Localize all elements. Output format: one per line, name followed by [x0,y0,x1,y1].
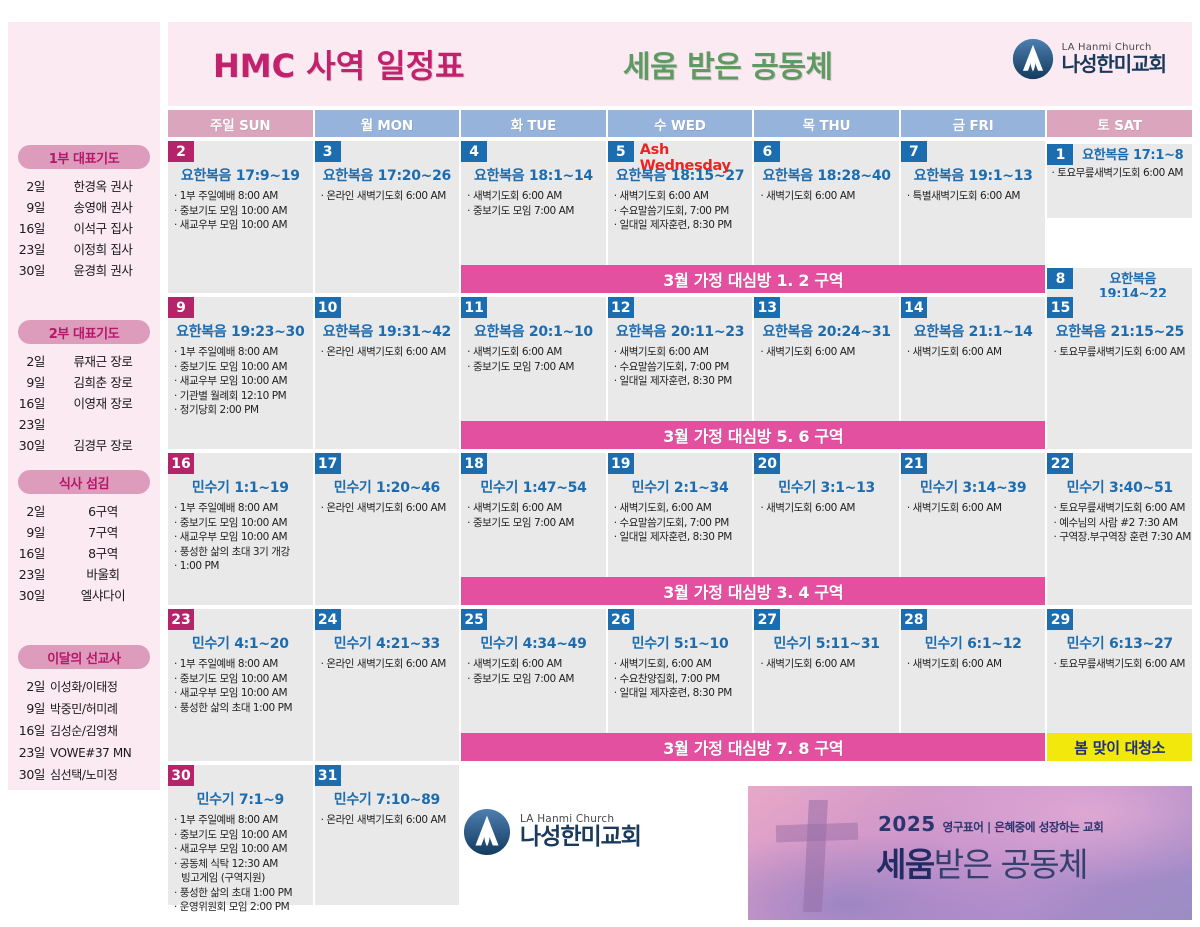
event-item: 중보기도 모임 7:00 AM [467,516,601,531]
calendar-week-row: 23민수기 4:1~201부 주일예배 8:00 AM중보기도 모임 10:00… [168,609,1192,761]
sidebar-row-day: 9일 [16,522,54,543]
daily-verse: 민수기 3:1~13 [754,477,899,497]
sidebar-row: 30일엘샤다이 [16,585,152,606]
sidebar-row: 23일바울회 [16,564,152,585]
daily-verse: 요한복음 19:31~42 [315,321,460,341]
sidebar-row-day: 2일 [16,351,54,372]
dow-header-0: 주일 SUN [168,110,313,137]
page-title: HMC 사역 일정표 [213,41,465,87]
day-cell[interactable]: 24민수기 4:21~33온라인 새벽기도회 6:00 AM [315,609,460,761]
day-number: 10 [315,297,341,318]
event-item: 새벽기도회 6:00 AM [614,345,748,360]
event-item: 일대일 제자훈련, 8:30 PM [614,218,748,233]
event-item: 온라인 새벽기도회 6:00 AM [321,345,455,360]
event-item: 수요찬양집회, 7:00 PM [614,672,748,687]
sidebar-row: 9일송영애 권사 [16,197,152,218]
event-list: 새벽기도회, 6:00 AM수요말씀기도회, 7:00 PM일대일 제자훈련, … [608,501,753,545]
event-list: 특별새벽기도회 6:00 AM [901,189,1046,204]
event-item: 새벽기도회 6:00 AM [467,501,601,516]
daily-verse: 민수기 4:21~33 [315,633,460,653]
event-list: 1부 주일예배 8:00 AM중보기도 모임 10:00 AM새교우부 모임 1… [168,345,313,418]
dow-header-4: 목 THU [754,110,899,137]
daily-verse: 요한복음 20:24~31 [754,321,899,341]
sidebar-row: 30일김경무 장로 [16,435,152,456]
event-item: 토요무릎새벽기도회 6:00 AM [1053,345,1187,360]
day-cell[interactable]: 30민수기 7:1~91부 주일예배 8:00 AM중보기도 모임 10:00 … [168,765,313,905]
sidebar-row-day: 30일 [16,764,50,785]
sidebar-section-title: 이달의 선교사 [18,645,150,669]
event-list: 토요무릎새벽기도회 6:00 AM [1047,166,1192,180]
day-number: 23 [168,609,194,630]
event-list: 새벽기도회, 6:00 AM수요찬양집회, 7:00 PM일대일 제자훈련, 8… [608,657,753,701]
daily-verse: 민수기 4:34~49 [461,633,606,653]
sidebar-row-value: 류재근 장로 [54,351,152,372]
sidebar-section: 이달의 선교사2일이성화/이태정9일박중민/허미례16일김성순/김영채23일VO… [8,645,160,786]
day-cell[interactable]: 31민수기 7:10~89온라인 새벽기도회 6:00 AM [315,765,460,905]
sidebar-row-value: 6구역 [54,501,152,522]
day-number: 27 [754,609,780,630]
event-item: 1부 주일예배 8:00 AM [174,501,308,516]
sidebar-row-day: 2일 [16,501,54,522]
event-item: 새교우부 모임 10:00 AM [174,842,308,857]
event-item: 새벽기도회, 6:00 AM [614,501,748,516]
event-item: 중보기도 모임 10:00 AM [174,516,308,531]
daily-verse: 민수기 7:1~9 [168,789,313,809]
event-item: 온라인 새벽기도회 6:00 AM [321,189,455,204]
mountain-logo-icon [1012,38,1054,80]
banner-tagline-row: 2025 영구표어 | 은혜중에 성장하는 교회 [878,812,1103,836]
sidebar-row-day: 30일 [16,260,54,281]
sidebar-row-day: 16일 [16,543,54,564]
daily-verse: 요한복음 18:1~14 [461,165,606,185]
banner-slogan: 세움받은 공동체 [876,838,1087,886]
day-number: 8 [1047,268,1073,289]
sidebar-section: 1부 대표기도2일한경옥 권사9일송영애 권사16일이석구 집사23일이정희 집… [8,145,160,281]
sidebar-row-day: 23일 [16,742,50,763]
logo-korean-name: 나성한미교회 [1062,54,1166,75]
day-number: 22 [1047,453,1073,474]
day-cell[interactable]: 9요한복음 19:23~301부 주일예배 8:00 AM중보기도 모임 10:… [168,297,313,449]
event-list: 토요무릎새벽기도회 6:00 AM [1047,345,1192,360]
sidebar-row: 16일8구역 [16,543,152,564]
sidebar-row-day: 16일 [16,218,54,239]
event-item: 특별새벽기도회 6:00 AM [907,189,1041,204]
event-item: 중보기도 모임 10:00 AM [174,204,308,219]
banner-tagline: 영구표어 | 은혜중에 성장하는 교회 [943,819,1104,835]
event-item: 중보기도 모임 10:00 AM [174,360,308,375]
day-number: 1 [1047,144,1073,165]
cross-crossbar-icon [776,823,859,843]
event-list: 새벽기도회 6:00 AM중보기도 모임 7:00 AM [461,189,606,218]
event-list: 온라인 새벽기도회 6:00 AM [315,345,460,360]
sidebar-row-day: 23일 [16,414,54,435]
event-list: 토요무릎새벽기도회 6:00 AM예수님의 사람 #2 7:30 AM구역장.부… [1047,501,1192,545]
calendar-week-row: 16민수기 1:1~191부 주일예배 8:00 AM중보기도 모임 10:00… [168,453,1192,605]
dow-header-6: 토 SAT [1047,110,1192,137]
event-item: 수요말씀기도회, 7:00 PM [614,516,748,531]
event-item: 새벽기도회 6:00 AM [907,657,1041,672]
day-number: 11 [461,297,487,318]
sidebar-row: 9일김희춘 장로 [16,372,152,393]
daily-verse: 민수기 1:20~46 [315,477,460,497]
day-number: 19 [608,453,634,474]
daily-verse: 민수기 2:1~34 [608,477,753,497]
event-item: 풍성한 삶의 초대 3기 개강 [174,545,308,560]
dow-header-1: 월 MON [315,110,460,137]
visitation-banner: 3월 가정 대심방 7. 8 구역 [461,733,1045,761]
sidebar-section-title: 1부 대표기도 [18,145,150,169]
daily-verse: 민수기 6:1~12 [901,633,1046,653]
banner-year: 2025 [878,812,936,836]
dow-header-2: 화 TUE [461,110,606,137]
day-number: 13 [754,297,780,318]
sidebar-row-value: 이영재 장로 [54,393,152,414]
event-item: 토요무릎새벽기도회 6:00 AM [1053,657,1187,672]
sidebar-section-list: 2일이성화/이태정9일박중민/허미례16일김성순/김영채23일VOWE#37 M… [8,676,160,786]
dow-header-5: 금 FRI [901,110,1046,137]
sidebar-row-value: VOWE#37 MN [50,743,152,764]
event-list: 새벽기도회 6:00 AM중보기도 모임 7:00 AM [461,657,606,686]
day-number: 4 [461,141,487,162]
event-list: 온라인 새벽기도회 6:00 AM [315,657,460,672]
event-item: 새벽기도회, 6:00 AM [614,657,748,672]
event-list: 새벽기도회 6:00 AM [901,501,1046,516]
event-list: 1부 주일예배 8:00 AM중보기도 모임 10:00 AM새교우부 모임 1… [168,813,313,915]
sidebar-row-value: 박중민/허미례 [50,699,152,720]
event-item: 온라인 새벽기도회 6:00 AM [321,657,455,672]
day-number: 28 [901,609,927,630]
event-item: 일대일 제자훈련, 8:30 PM [614,686,748,701]
event-item: 새벽기도회 6:00 AM [467,657,601,672]
calendar-page: 2025년 3월 1부 대표기도2일한경옥 권사9일송영애 권사16일이석구 집… [0,0,1200,927]
daily-verse: 민수기 3:14~39 [901,477,1046,497]
daily-verse: 요한복음 20:11~23 [608,321,753,341]
sidebar-row-day: 9일 [16,372,54,393]
event-item: 빙고게임 (구역지원) [174,871,308,886]
event-item: 새교우부 모임 10:00 AM [174,686,308,701]
day-cell-stacked[interactable]: 1요한복음 17:1~8토요무릎새벽기도회 6:00 AM8요한복음 19:14… [1047,141,1192,293]
event-item: 풍성한 삶의 초대 1:00 PM [174,701,308,716]
sidebar-row-day: 23일 [16,239,54,260]
day-cell[interactable]: 23민수기 4:1~201부 주일예배 8:00 AM중보기도 모임 10:00… [168,609,313,761]
event-item: 1부 주일예배 8:00 AM [174,189,308,204]
sidebar-row-value: 이석구 집사 [54,218,152,239]
event-list: 새벽기도회 6:00 AM [754,345,899,360]
sidebar-row: 16일김성순/김영채 [16,720,152,742]
sidebar-row-day: 30일 [16,435,54,456]
event-list: 새벽기도회 6:00 AM수요말씀기도회, 7:00 PM일대일 제자훈련, 8… [608,345,753,389]
visitation-banner: 3월 가정 대심방 1. 2 구역 [461,265,1045,293]
day-number: 21 [901,453,927,474]
sidebar-row-value: 김성순/김영채 [50,721,152,742]
event-item: 토요무릎새벽기도회 6:00 AM [1051,166,1189,180]
event-item: 새벽기도회 6:00 AM [760,657,894,672]
sidebar-row-day: 2일 [16,176,54,197]
day-number: 18 [461,453,487,474]
sidebar-section-list: 2일류재근 장로9일김희춘 장로16일이영재 장로23일30일김경무 장로 [8,351,160,456]
event-list: 새벽기도회 6:00 AM [754,189,899,204]
daily-verse: 요한복음 21:1~14 [901,321,1046,341]
event-item: 운영위원회 모임 2:00 PM [174,900,308,915]
sidebar-row-value: 김희춘 장로 [54,372,152,393]
day-number: 15 [1047,297,1073,318]
event-item: 새벽기도회 6:00 AM [467,189,601,204]
day-number: 24 [315,609,341,630]
header-banner: HMC 사역 일정표 세움 받은 공동체 LA Hanmi Church 나성한 [168,22,1192,106]
event-item: 새벽기도회 6:00 AM [760,345,894,360]
sidebar-row: 9일7구역 [16,522,152,543]
event-list: 온라인 새벽기도회 6:00 AM [315,501,460,516]
event-item: 새벽기도회 6:00 AM [907,501,1041,516]
event-item: 기관별 월례회 12:10 PM [174,389,308,404]
day-number: 3 [315,141,341,162]
day-number: 2 [168,141,194,162]
sidebar-row-day: 23일 [16,564,54,585]
sidebar-row: 30일심선택/노미정 [16,764,152,786]
sidebar-row-value: 이정희 집사 [54,239,152,260]
event-item: 중보기도 모임 10:00 AM [174,828,308,843]
slogan-banner: 2025 영구표어 | 은혜중에 성장하는 교회 세움받은 공동체 [748,786,1192,920]
event-item: 중보기도 모임 7:00 AM [467,360,601,375]
day-cell[interactable]: 22민수기 3:40~51토요무릎새벽기도회 6:00 AM예수님의 사람 #2… [1047,453,1192,605]
event-item: 일대일 제자훈련, 8:30 PM [614,374,748,389]
daily-verse: 민수기 7:10~89 [315,789,460,809]
event-item: 정기당회 2:00 PM [174,403,308,418]
sidebar-row: 23일 [16,414,152,435]
sidebar-row-value: 한경옥 권사 [54,176,152,197]
day-number: 26 [608,609,634,630]
event-item: 1:00 PM [174,559,308,574]
church-logo-footer: LA Hanmi Church 나성한미교회 [463,808,641,856]
daily-verse: 민수기 3:40~51 [1047,477,1192,497]
event-list: 새벽기도회 6:00 AM중보기도 모임 7:00 AM [461,501,606,530]
event-item: 새벽기도회 6:00 AM [467,345,601,360]
sidebar-row: 2일이성화/이태정 [16,676,152,698]
sidebar-section-list: 2일한경옥 권사9일송영애 권사16일이석구 집사23일이정희 집사30일윤경희… [8,176,160,281]
daily-verse: 요한복음 19:23~30 [168,321,313,341]
calendar-week-row: 9요한복음 19:23~301부 주일예배 8:00 AM중보기도 모임 10:… [168,297,1192,449]
sidebar-row-value: 8구역 [54,543,152,564]
sidebar-row-value: 김경무 장로 [54,435,152,456]
event-item: 토요무릎새벽기도회 6:00 AM [1053,501,1187,516]
calendar-week-row: 2요한복음 17:9~191부 주일예배 8:00 AM중보기도 모임 10:0… [168,141,1192,293]
event-item: 새벽기도회 6:00 AM [760,501,894,516]
sidebar-row-day: 16일 [16,393,54,414]
day-cell[interactable]: 1요한복음 17:1~8토요무릎새벽기도회 6:00 AM [1047,144,1192,218]
day-of-week-header: 주일 SUN월 MON화 TUE수 WED목 THU금 FRI토 SAT [168,110,1192,137]
sidebar-row-value: 심선택/노미정 [50,765,152,786]
sidebar-row-day: 2일 [16,676,50,697]
event-list: 새벽기도회 6:00 AM수요말씀기도회, 7:00 PM일대일 제자훈련, 8… [608,189,753,233]
event-item: 새벽기도회 6:00 AM [760,189,894,204]
day-number: 30 [168,765,194,786]
mountain-logo-icon [463,808,511,856]
banner-slogan-rest: 받은 공동체 [934,845,1087,884]
daily-verse: 민수기 5:11~31 [754,633,899,653]
daily-verse: 요한복음 17:20~26 [315,165,460,185]
sidebar-row-day: 9일 [16,197,54,218]
event-item: 온라인 새벽기도회 6:00 AM [321,501,455,516]
sidebar-row-value: 바울회 [54,564,152,585]
event-item: 온라인 새벽기도회 6:00 AM [321,813,455,828]
event-list: 새벽기도회 6:00 AM [754,657,899,672]
special-day-tag: Ash Wednesday [640,142,753,174]
event-item: 수요말씀기도회, 7:00 PM [614,204,748,219]
sidebar-row-day: 16일 [16,720,50,741]
event-list: 새벽기도회 6:00 AM [901,657,1046,672]
day-number: 9 [168,297,194,318]
church-logo-header: LA Hanmi Church 나성한미교회 [1012,38,1166,80]
sidebar-section-title: 식사 섬김 [18,470,150,494]
sidebar-row: 16일이석구 집사 [16,218,152,239]
sidebar-row-value: 송영애 권사 [54,197,152,218]
day-number: 29 [1047,609,1073,630]
day-number: 7 [901,141,927,162]
day-number: 17 [315,453,341,474]
sidebar-row-day: 9일 [16,698,50,719]
event-list: 온라인 새벽기도회 6:00 AM [315,189,460,204]
daily-verse: 민수기 4:1~20 [168,633,313,653]
day-number: 14 [901,297,927,318]
sidebar-row: 9일박중민/허미례 [16,698,152,720]
event-item: 일대일 제자훈련, 8:30 PM [614,530,748,545]
sidebar-row-value: 이성화/이태정 [50,677,152,698]
day-number: 20 [754,453,780,474]
sidebar-row-day: 30일 [16,585,54,606]
event-list: 토요무릎새벽기도회 6:00 AM [1047,657,1192,672]
day-cell[interactable]: 17민수기 1:20~46온라인 새벽기도회 6:00 AM [315,453,460,605]
visitation-banner: 3월 가정 대심방 5. 6 구역 [461,421,1045,449]
event-item: 1부 주일예배 8:00 AM [174,345,308,360]
sidebar-section: 2부 대표기도2일류재근 장로9일김희춘 장로16일이영재 장로23일30일김경… [8,320,160,456]
day-number: 16 [168,453,194,474]
footer-logo-korean-name: 나성한미교회 [520,825,641,849]
daily-verse: 요한복음 17:9~19 [168,165,313,185]
event-item: 수요말씀기도회, 7:00 PM [614,360,748,375]
day-number: 12 [608,297,634,318]
sidebar-row: 2일6구역 [16,501,152,522]
sidebar-row-value: 7구역 [54,522,152,543]
sidebar-row: 23일이정희 집사 [16,239,152,260]
day-number: 25 [461,609,487,630]
cleanup-banner: 봄 맞이 대청소 [1047,733,1192,761]
daily-verse: 요한복음 20:1~10 [461,321,606,341]
event-list: 온라인 새벽기도회 6:00 AM [315,813,460,828]
sidebar-row: 2일한경옥 권사 [16,176,152,197]
daily-verse: 요한복음 21:15~25 [1047,321,1192,341]
banner-slogan-bold: 세움 [876,845,934,884]
event-item: 중보기도 모임 10:00 AM [174,672,308,687]
event-item: 중보기도 모임 7:00 AM [467,672,601,687]
daily-verse: 민수기 1:47~54 [461,477,606,497]
day-cell[interactable]: 2요한복음 17:9~191부 주일예배 8:00 AM중보기도 모임 10:0… [168,141,313,293]
sidebar-row-value: 엘샤다이 [54,585,152,606]
event-list: 1부 주일예배 8:00 AM중보기도 모임 10:00 AM새교우부 모임 1… [168,657,313,715]
event-item: 구역장.부구역장 훈련 7:30 AM [1053,530,1187,545]
dow-header-3: 수 WED [608,110,753,137]
event-item: 새교우부 모임 10:00 AM [174,218,308,233]
event-item: 새벽기도회 6:00 AM [907,345,1041,360]
visitation-banner: 3월 가정 대심방 3. 4 구역 [461,577,1045,605]
day-number: 6 [754,141,780,162]
sidebar-section-title: 2부 대표기도 [18,320,150,344]
event-item: 새벽기도회 6:00 AM [614,189,748,204]
header-subtitle: 세움 받은 공동체 [623,42,833,86]
day-number: 31 [315,765,341,786]
event-list: 1부 주일예배 8:00 AM중보기도 모임 10:00 AM새교우부 모임 1… [168,189,313,233]
sidebar-section-list: 2일6구역9일7구역16일8구역23일바울회30일엘샤다이 [8,501,160,606]
event-item: 1부 주일예배 8:00 AM [174,813,308,828]
daily-verse: 민수기 6:13~27 [1047,633,1192,653]
event-item: 풍성한 삶의 초대 1:00 PM [174,886,308,901]
day-cell[interactable]: 15요한복음 21:15~25토요무릎새벽기도회 6:00 AM [1047,297,1192,449]
daily-verse: 요한복음 19:1~13 [901,165,1046,185]
daily-verse: 민수기 5:1~10 [608,633,753,653]
sidebar-section: 식사 섬김2일6구역9일7구역16일8구역23일바울회30일엘샤다이 [8,470,160,606]
event-item: 공동체 식탁 12:30 AM [174,857,308,872]
event-item: 새교우부 모임 10:00 AM [174,374,308,389]
event-item: 새교우부 모임 10:00 AM [174,530,308,545]
event-item: 1부 주일예배 8:00 AM [174,657,308,672]
day-number: 5 [608,141,634,162]
event-list: 1부 주일예배 8:00 AM중보기도 모임 10:00 AM새교우부 모임 1… [168,501,313,574]
event-item: 중보기도 모임 7:00 AM [467,204,601,219]
event-list: 새벽기도회 6:00 AM [754,501,899,516]
day-cell[interactable]: 10요한복음 19:31~42온라인 새벽기도회 6:00 AM [315,297,460,449]
event-list: 새벽기도회 6:00 AM중보기도 모임 7:00 AM [461,345,606,374]
sidebar-row: 30일윤경희 권사 [16,260,152,281]
sidebar-row: 23일VOWE#37 MN [16,742,152,764]
day-cell[interactable]: 16민수기 1:1~191부 주일예배 8:00 AM중보기도 모임 10:00… [168,453,313,605]
daily-verse: 민수기 1:1~19 [168,477,313,497]
day-cell[interactable]: 3요한복음 17:20~26온라인 새벽기도회 6:00 AM [315,141,460,293]
daily-verse: 요한복음 18:28~40 [754,165,899,185]
sidebar-row-value: 윤경희 권사 [54,260,152,281]
event-item: 예수님의 사람 #2 7:30 AM [1053,516,1187,531]
sidebar-row: 16일이영재 장로 [16,393,152,414]
sidebar-row: 2일류재근 장로 [16,351,152,372]
event-list: 새벽기도회 6:00 AM [901,345,1046,360]
